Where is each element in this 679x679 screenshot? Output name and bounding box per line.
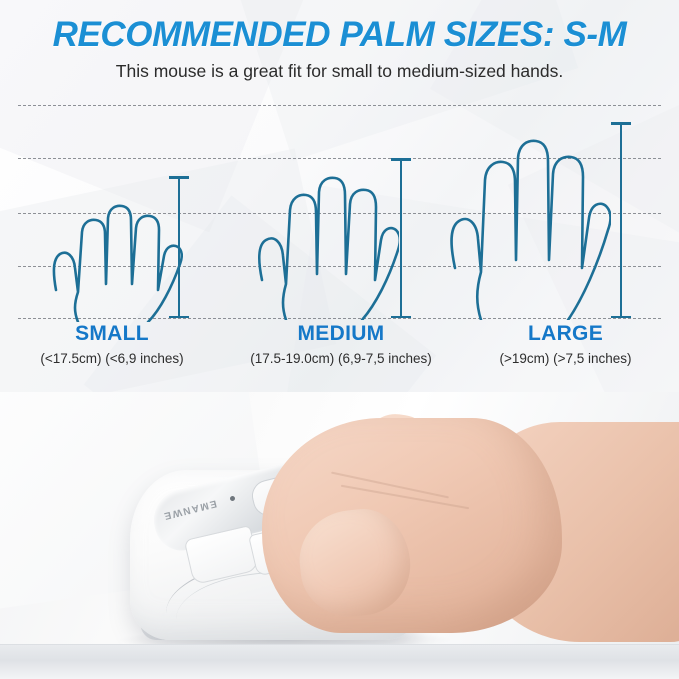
hand-outline-medium-icon — [254, 152, 399, 320]
header: RECOMMENDED PALM SIZES: S-M This mouse i… — [0, 0, 679, 92]
size-label-large: LARGE (>19cm) (>7,5 inches) — [452, 322, 679, 368]
hand-palm — [262, 418, 562, 633]
infographic-page: RECOMMENDED PALM SIZES: S-M This mouse i… — [0, 0, 679, 679]
measure-bar-large — [620, 122, 622, 318]
size-range-medium: (17.5-19.0cm) (6,9-7,5 inches) — [216, 346, 466, 368]
page-subtitle: This mouse is a great fit for small to m… — [0, 54, 679, 81]
desk-surface — [0, 644, 679, 679]
size-label-small: SMALL (<17.5cm) (<6,9 inches) — [0, 322, 224, 368]
size-name-small: SMALL — [0, 322, 224, 346]
measure-bar-small — [178, 176, 180, 318]
page-title: RECOMMENDED PALM SIZES: S-M — [0, 0, 679, 54]
size-label-medium: MEDIUM (17.5-19.0cm) (6,9-7,5 inches) — [216, 322, 466, 368]
hand-outline-large-icon — [446, 118, 611, 320]
hand-outline-small-icon — [48, 172, 183, 322]
product-photo: EMANWE — [0, 392, 679, 679]
size-range-large: (>19cm) (>7,5 inches) — [452, 346, 679, 368]
size-name-large: LARGE — [452, 322, 679, 346]
size-name-medium: MEDIUM — [216, 322, 466, 346]
measure-bar-medium — [400, 158, 402, 318]
size-range-small: (<17.5cm) (<6,9 inches) — [0, 346, 224, 368]
